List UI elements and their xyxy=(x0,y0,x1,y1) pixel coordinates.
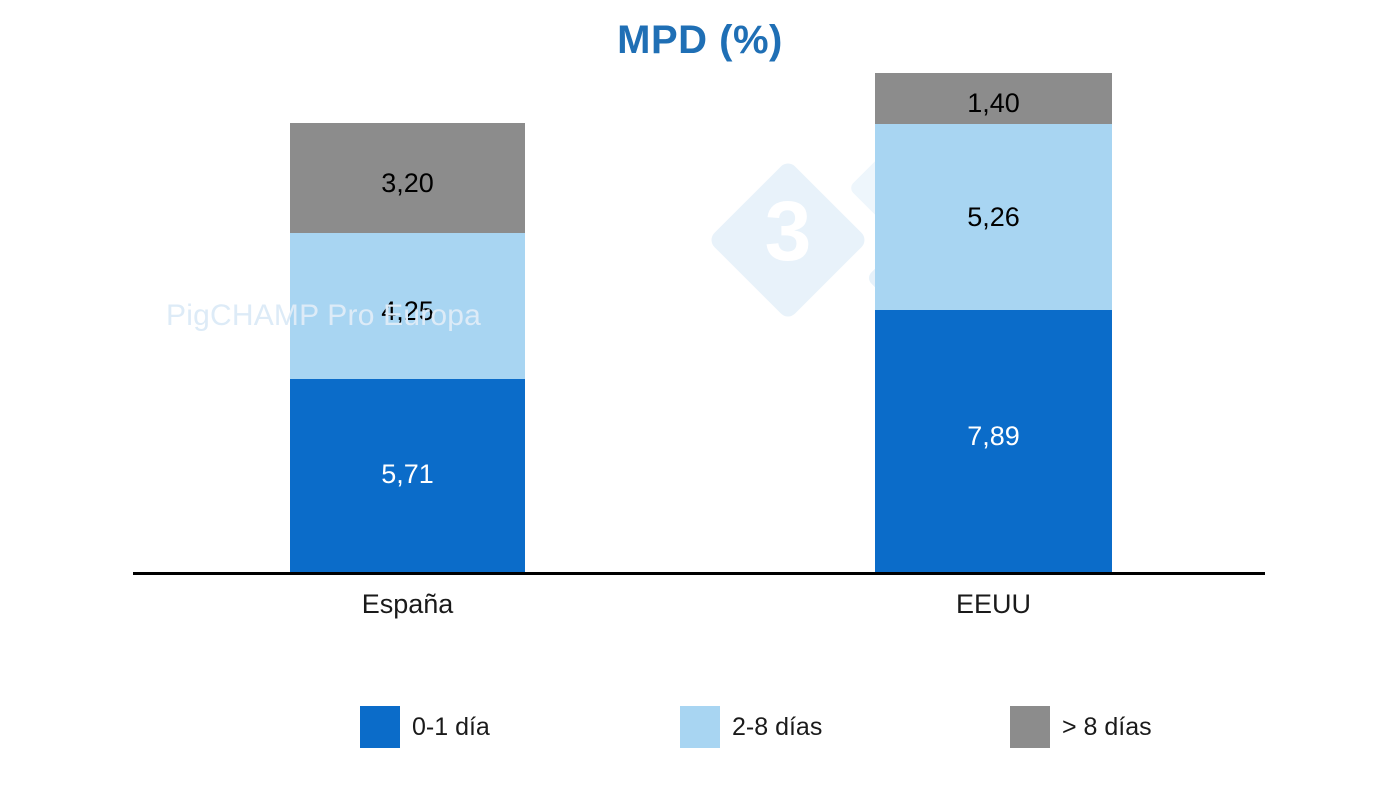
bar-value-label: 7,89 xyxy=(875,423,1112,450)
bar-value-label: 5,26 xyxy=(875,204,1112,231)
chart-legend: 0-1 día 2-8 días > 8 días xyxy=(0,703,1400,751)
bar-stack-espana[interactable]: 3,20 4,25 5,71 xyxy=(290,123,525,573)
bar-segment-espana-0a1dia[interactable]: 5,71 xyxy=(290,379,525,573)
category-label-eeuu: EEUU xyxy=(875,589,1112,620)
bar-segment-eeuu-2a8dias[interactable]: 5,26 xyxy=(875,124,1112,310)
category-axis-line xyxy=(133,572,1265,575)
legend-swatch-icon xyxy=(1010,706,1050,748)
watermark-pigchamp-text: PigCHAMP Pro Europa xyxy=(166,299,481,333)
legend-swatch-icon xyxy=(360,706,400,748)
bar-segment-eeuu-0a1dia[interactable]: 7,89 xyxy=(875,310,1112,573)
plot-area: 3,20 4,25 5,71 1,40 5,26 7,89 xyxy=(0,0,1400,573)
category-label-espana: España xyxy=(290,589,525,620)
legend-label: 2-8 días xyxy=(732,713,822,742)
legend-swatch-icon xyxy=(680,706,720,748)
bar-segment-espana-gt8dias[interactable]: 3,20 xyxy=(290,123,525,233)
bar-segment-eeuu-gt8dias[interactable]: 1,40 xyxy=(875,73,1112,124)
legend-item-0a1dia[interactable]: 0-1 día xyxy=(360,703,490,751)
bar-value-label: 1,40 xyxy=(875,90,1112,117)
legend-label: 0-1 día xyxy=(412,713,490,742)
legend-label: > 8 días xyxy=(1062,713,1152,742)
bar-stack-eeuu[interactable]: 1,40 5,26 7,89 xyxy=(875,73,1112,573)
legend-item-gt8dias[interactable]: > 8 días xyxy=(1010,703,1152,751)
bar-value-label: 5,71 xyxy=(290,461,525,488)
chart-container: MPD (%) 3 3 3 PigCHAMP Pro Europa 3,20 4… xyxy=(0,0,1400,788)
legend-item-2a8dias[interactable]: 2-8 días xyxy=(680,703,822,751)
bar-value-label: 3,20 xyxy=(290,170,525,197)
